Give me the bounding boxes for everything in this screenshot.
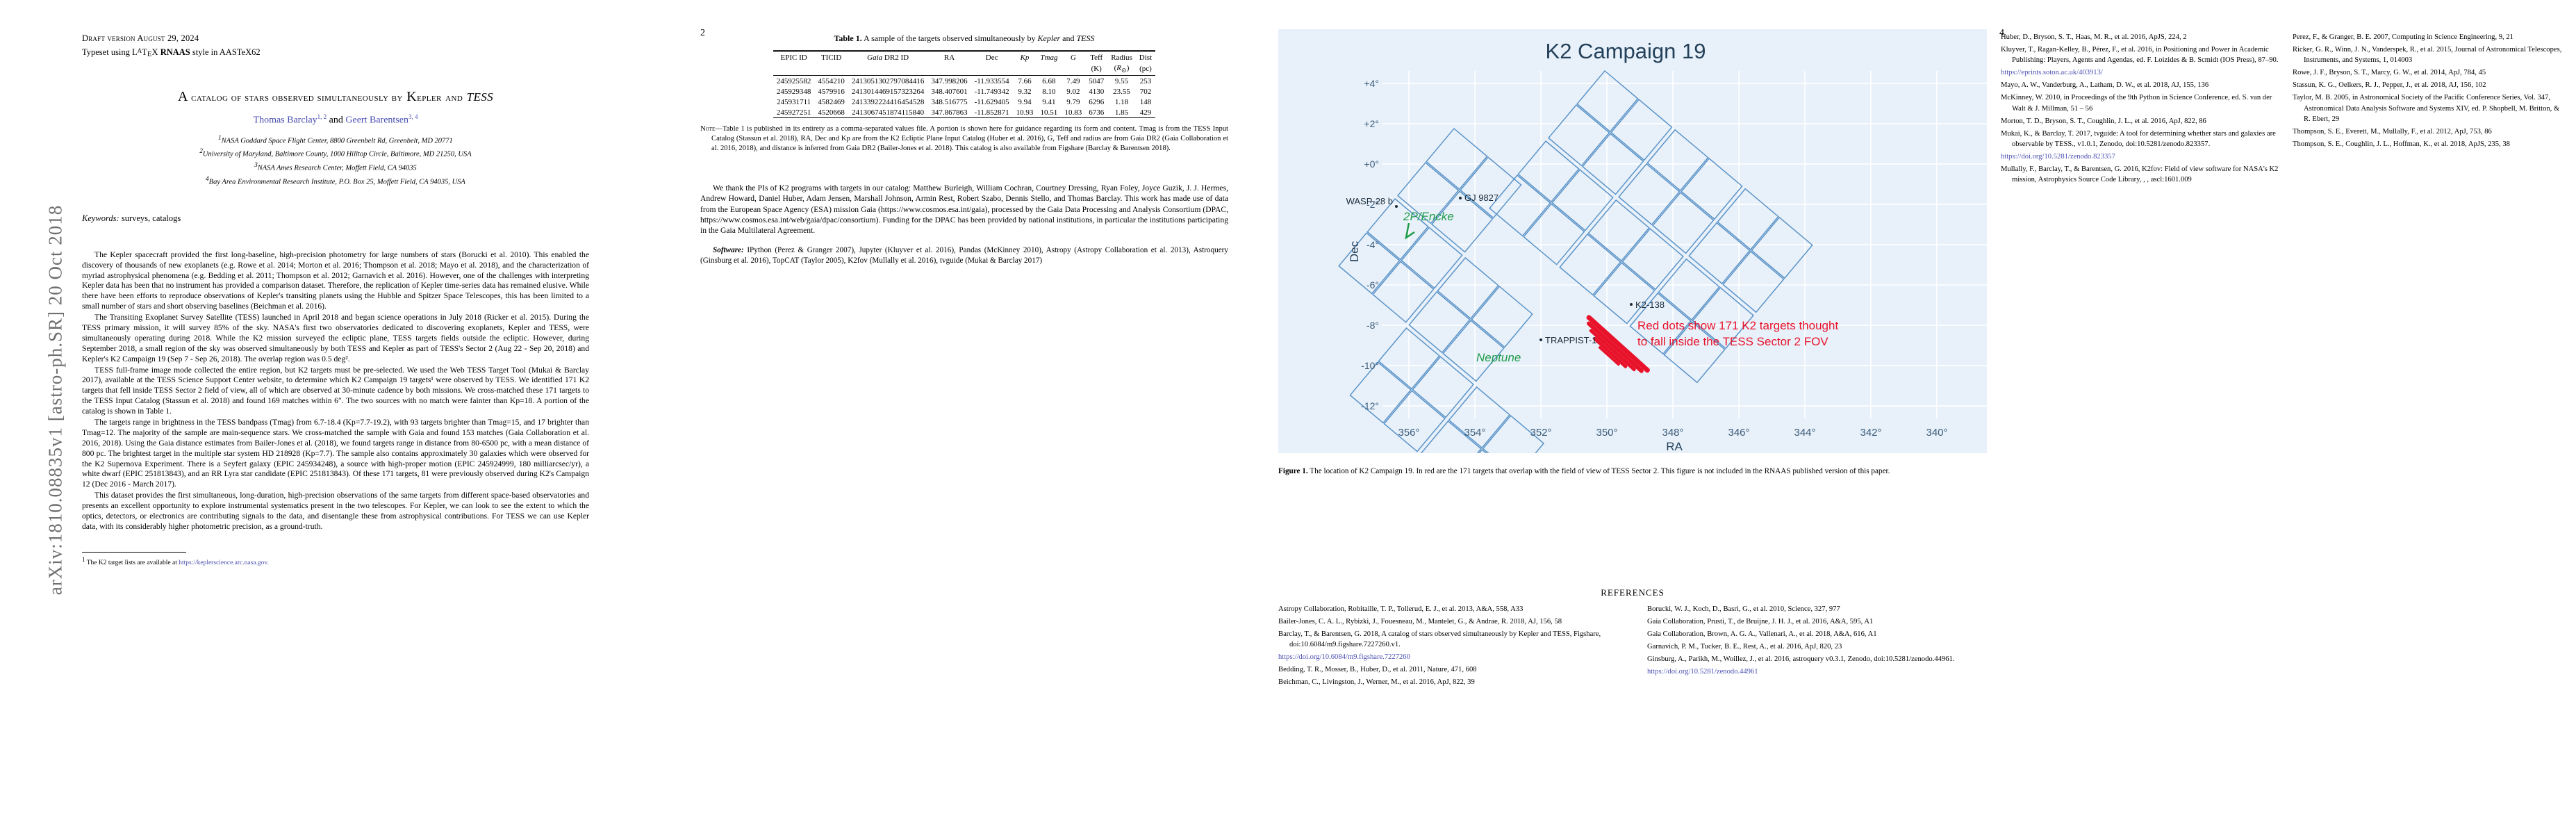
unit-radius: (R⊙) [1107,63,1136,76]
cell-ra: 347.998206 [927,76,971,87]
cell-kp: 7.66 [1013,76,1037,87]
reference-item: Beichman, C., Livingston, J., Werner, M.… [1278,677,1618,687]
col-header-dec: Dec [971,51,1013,63]
reference-item: Gaia Collaboration, Prusti, T., de Bruij… [1647,616,1987,627]
reference-item: Huber, D., Bryson, S. T., Haas, M. R., e… [2001,32,2279,42]
plot-title: K2 Campaign 19 [1546,39,1706,63]
cell-dec: -11.852871 [971,107,1013,118]
unit-ra [927,63,971,76]
cell-tmag: 6.68 [1037,76,1061,87]
table-row: 24592934845799162413014469157323264348.4… [773,86,1155,97]
reference-item: Ginsburg, A., Parikh, M., Woillez, J., e… [1647,654,1987,664]
unit-ticid [814,63,848,76]
y-axis-label: Dec [1348,240,1361,262]
body-paragraph-1: The Kepler spacecraft provided the first… [82,250,589,312]
comet-encke-label: 2P/Encke [1403,210,1454,223]
y-tick: -4° [1367,239,1379,250]
references-column-3: Huber, D., Bryson, S. T., Haas, M. R., e… [2001,0,2279,187]
page-title: A catalog of stars observed simultaneous… [82,88,589,105]
affiliations-block: 1NASA Goddard Space Flight Center, 8800 … [82,133,589,188]
software-label: Software: [713,246,744,254]
reference-list-4: Perez, F., & Granger, B. E. 2007, Comput… [2293,32,2563,150]
cell-ticid: 4582469 [814,97,848,107]
col-header-kp: Kp [1013,51,1037,63]
cell-gaia: 2413014469157323264 [848,86,928,97]
table-row: 24593171145824692413392224416454528348.5… [773,97,1155,107]
cell-radius: 1.18 [1107,97,1136,107]
object-label-wasp28b: WASP-28 b [1346,196,1393,206]
cell-ra: 348.407601 [927,86,971,97]
software-paragraph: Software: IPython (Perez & Granger 2007)… [700,245,1228,266]
table-caption: Table 1. A sample of the targets observe… [700,33,1228,44]
footnote: 1 The K2 target lists are available at h… [82,556,589,566]
cell-dec: -11.749342 [971,86,1013,97]
table-note: Note—Table 1 is published in its entiret… [700,124,1228,154]
unit-g [1061,63,1085,76]
reference-link[interactable]: https://doi.org/10.5281/zenodo.823357 [2001,152,2279,162]
figure-column: K2 Campaign 19 +4° +2° +0° -2° -4° -6° -… [1278,0,1987,477]
reference-link[interactable]: https://doi.org/10.6084/m9.figshare.7227… [1278,652,1618,662]
references-heading: REFERENCES [1278,587,1987,598]
table-caption-text: A sample of the targets observed simulta… [862,33,1095,43]
reference-item: Thompson, S. E., Everett, M., Mullally, … [2293,126,2563,137]
cell-teff: 6736 [1085,107,1107,118]
cell-dist: 429 [1136,107,1155,118]
cell-dist: 148 [1136,97,1155,107]
body-text: The Kepler spacecraft provided the first… [82,250,589,532]
x-tick: 340° [1926,427,1947,439]
cell-ticid: 4554210 [814,76,848,87]
col-header-tmag: Tmag [1037,51,1061,63]
footnote-text: The K2 target lists are available at [85,559,179,566]
k2-campaign-19-plot: K2 Campaign 19 +4° +2° +0° -2° -4° -6° -… [1278,29,1987,453]
cell-ticid: 4520668 [814,107,848,118]
references-column-2: Borucki, W. J., Koch, D., Basri, G., et … [1647,604,1987,689]
cell-teff: 4130 [1085,86,1107,97]
cell-gaia: 2413392224416454528 [848,97,928,107]
cell-epic: 245925582 [773,76,815,87]
unit-dist: (pc) [1136,63,1155,76]
y-tick: -6° [1367,279,1379,291]
acknowledgements: We thank the PIs of K2 programs with tar… [700,183,1228,235]
reference-list-3: Huber, D., Bryson, S. T., Haas, M. R., e… [2001,32,2279,186]
figure-caption: Figure 1. The location of K2 Campaign 19… [1278,466,1987,477]
reference-item: Borucki, W. J., Koch, D., Basri, G., et … [1647,604,1987,614]
y-tick: -8° [1367,320,1379,331]
author-2-affil: 3, 4 [408,113,418,120]
cell-g: 9.79 [1061,97,1085,107]
reference-item: Barclay, T., & Barentsen, G. 2018, A cat… [1278,629,1618,651]
unit-teff: (K) [1085,63,1107,76]
y-tick: +4° [1364,78,1379,89]
col-header-dist: Dist [1136,51,1155,63]
cell-kp: 10.93 [1013,107,1037,118]
affiliation-2: 2University of Maryland, Baltimore Count… [82,147,589,161]
reference-item: Perez, F., & Granger, B. E. 2007, Comput… [2293,32,2563,42]
cell-ticid: 4579916 [814,86,848,97]
y-tick: -12° [1361,400,1379,411]
y-tick: -10° [1361,360,1379,371]
x-axis-label: RA [1666,440,1683,453]
reference-item: McKinney, W. 2010, in Proceedings of the… [2001,92,2279,114]
cell-dec: -11.629405 [971,97,1013,107]
x-tick: 346° [1728,427,1749,439]
cell-radius: 1.85 [1107,107,1136,118]
author-1: Thomas Barclay [254,115,317,126]
body-paragraph-3: TESS full-frame image mode collected the… [82,366,589,417]
keywords-label: Keywords: [82,213,119,223]
unit-dec [971,63,1013,76]
x-tick: 344° [1794,427,1815,439]
reference-item: Bailer-Jones, C. A. L., Rybizki, J., Fou… [1278,616,1618,627]
neptune-label: Neptune [1476,351,1521,364]
figure-1: K2 Campaign 19 +4° +2° +0° -2° -4° -6° -… [1278,29,1987,477]
reference-item: Stassun, K. G., Oelkers, R. J., Pepper, … [2293,80,2563,90]
cell-g: 10.83 [1061,107,1085,118]
cell-teff: 6296 [1085,97,1107,107]
cell-gaia: 2413051302797084416 [848,76,928,87]
cell-epic: 245927251 [773,107,815,118]
x-tick: 356° [1398,427,1419,439]
reference-item: Thompson, S. E., Coughlin, J. L., Hoffma… [2293,139,2563,149]
affiliation-4: 4Bay Area Environmental Research Institu… [82,174,589,188]
author-list: Thomas Barclay1, 2 and Geert Barentsen3,… [82,113,589,126]
reference-item: Astropy Collaboration, Robitaille, T. P.… [1278,604,1618,614]
references-column-1: Astropy Collaboration, Robitaille, T. P.… [1278,604,1618,689]
cell-g: 7.49 [1061,76,1085,87]
x-tick: 342° [1860,427,1881,439]
object-label-gj9827: GJ 9827 [1464,193,1498,203]
arxiv-stamp: arXiv:1810.08835v1 [astro-ph.SR] 20 Oct … [45,136,67,664]
x-tick: 354° [1464,427,1485,439]
table-note-text: Table 1 is published in its entirety as … [711,125,1228,152]
author-2: Geert Barentsen [345,115,408,126]
col-header-radius: Radius [1107,51,1136,63]
cell-tmag: 10.51 [1037,107,1061,118]
unit-epic [773,63,815,76]
cell-ra: 348.516775 [927,97,971,107]
cell-tmag: 8.10 [1037,86,1061,97]
affiliation-3: 3NASA Ames Research Center, Moffett Fiel… [82,161,589,174]
cell-g: 9.02 [1061,86,1085,97]
x-tick: 352° [1530,427,1551,439]
keywords-value: surveys, catalogs [119,213,181,223]
body-paragraph-2: The Transiting Exoplanet Survey Satellit… [82,313,589,364]
x-tick: 348° [1662,427,1683,439]
annotation-line-1: Red dots show 171 K2 targets thought [1637,319,1838,332]
cell-radius: 23.55 [1107,86,1136,97]
table-row: 24592725145206682413067451874115840347.8… [773,107,1155,118]
reference-item: Ricker, G. R., Winn, J. N., Vanderspek, … [2293,44,2563,66]
table-header-row: EPIC ID TICID Gaia DR2 ID RA Dec Kp Tmag… [773,51,1155,63]
reference-item: Gaia Collaboration, Brown, A. G. A., Val… [1647,629,1987,639]
x-tick: 350° [1596,427,1617,439]
author-conjunction: and [327,115,345,126]
object-label-k2-138: K2-138 [1635,300,1665,310]
reference-item: Kluyver, T., Ragan-Kelley, B., Pérez, F.… [2001,44,2279,66]
reference-item: Mullally, F., Barclay, T., & Barentsen, … [2001,164,2279,186]
table-caption-label: Table 1. [834,33,861,43]
table-body: 24592558245542102413051302797084416347.9… [773,76,1155,118]
unit-gaia [848,63,928,76]
affiliation-1: 1NASA Goddard Space Flight Center, 8800 … [82,133,589,147]
software-text: IPython (Perez & Granger 2007), Jupyter … [700,246,1228,265]
col-header-teff: Teff [1085,51,1107,63]
table-column: Table 1. A sample of the targets observe… [700,0,1228,265]
cell-dist: 253 [1136,76,1155,87]
plot-background [1278,29,1987,453]
reference-link[interactable]: https://doi.org/10.5281/zenodo.44961 [1647,667,1987,677]
y-tick: +0° [1364,158,1379,170]
reference-link[interactable]: https://eprints.soton.ac.uk/403913/ [2001,67,2279,78]
reference-item: Mukai, K., & Barclay, T. 2017, tvguide: … [2001,129,2279,150]
typeset-line: Typeset using LATEX RNAAS style in AASTe… [82,47,589,58]
reference-item: Mayo, A. W., Vanderburg, A., Latham, D. … [2001,80,2279,90]
cell-epic: 245931711 [773,97,815,107]
reference-item: Taylor, M. B. 2005, in Astronomical Soci… [2293,92,2563,124]
references-section: REFERENCES Astropy Collaboration, Robita… [1278,587,1987,689]
cell-kp: 9.32 [1013,86,1037,97]
cell-tmag: 9.41 [1037,97,1061,107]
body-paragraph-4: The targets range in brightness in the T… [82,418,589,490]
col-header-epic: EPIC ID [773,51,815,63]
cell-ra: 347.867863 [927,107,971,118]
col-header-g: G [1061,51,1085,63]
cell-dec: -11.933554 [971,76,1013,87]
col-header-ticid: TICID [814,51,848,63]
reference-item: Garnavich, P. M., Tucker, B. E., Rest, A… [1647,641,1987,652]
reference-item: Bedding, T. R., Mosser, B., Huber, D., e… [1278,664,1618,675]
y-tick: +2° [1364,118,1379,129]
cell-gaia: 2413067451874115840 [848,107,928,118]
reference-item: Morton, T. D., Bryson, S. T., Coughlin, … [2001,116,2279,126]
unit-kp [1013,63,1037,76]
paper-page: arXiv:1810.08835v1 [astro-ph.SR] 20 Oct … [0,0,2576,834]
col-header-ra: RA [927,51,971,63]
cell-kp: 9.94 [1013,97,1037,107]
table-row: 24592558245542102413051302797084416347.9… [773,76,1155,87]
references-column-4: Perez, F., & Granger, B. E. 2007, Comput… [2293,0,2563,152]
targets-table: EPIC ID TICID Gaia DR2 ID RA Dec Kp Tmag… [773,50,1155,118]
cell-teff: 5047 [1085,76,1107,87]
annotation-line-2: to fall inside the TESS Sector 2 FOV [1637,335,1828,348]
footnote-divider [82,552,186,553]
figure-caption-text: The location of K2 Campaign 19. In red a… [1308,467,1890,475]
cell-radius: 9.55 [1107,76,1136,87]
col-header-gaia: Gaia DR2 ID [848,51,928,63]
table-units-row: (K) (R⊙) (pc) [773,63,1155,76]
cell-dist: 702 [1136,86,1155,97]
draft-version: Draft version August 29, 2024 [82,33,589,44]
keywords: Keywords: surveys, catalogs [82,213,589,224]
figure-caption-label: Figure 1. [1278,467,1308,475]
footnote-link[interactable]: https://keplerscience.arc.nasa.gov. [179,559,269,566]
body-paragraph-5: This dataset provides the first simultan… [82,491,589,532]
object-label-trappist1: TRAPPIST-1 [1545,335,1596,345]
title-column: Draft version August 29, 2024 Typeset us… [82,0,589,566]
table-note-label: Note— [700,125,723,133]
x-tick-labels: 356° 354° 352° 350° 348° 346° 344° 342° … [1398,427,1947,439]
cell-epic: 245929348 [773,86,815,97]
unit-tmag [1037,63,1061,76]
author-1-affil: 1, 2 [317,113,327,120]
reference-item: Rowe, J. F., Bryson, S. T., Marcy, G. W.… [2293,67,2563,78]
